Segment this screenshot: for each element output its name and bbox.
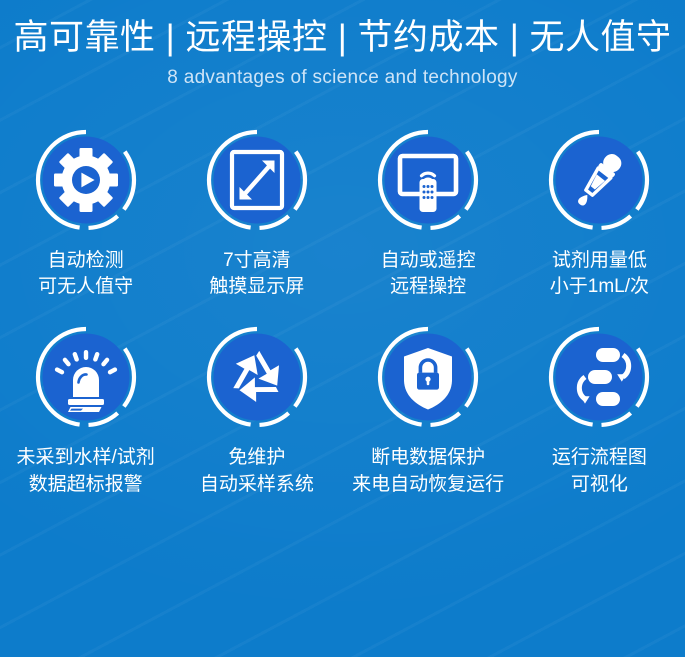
monitor-remote-icon <box>375 127 481 233</box>
poster-root: 高可靠性 | 远程操控 | 节约成本 | 无人值守 8 advantages o… <box>0 0 685 657</box>
expand-screen-icon-badge[interactable] <box>204 127 310 233</box>
shield-lock-icon <box>375 324 481 430</box>
recycle-icon-badge[interactable] <box>204 324 310 430</box>
feature-label: 免维护自动采样系统 <box>200 445 314 497</box>
feature-item[interactable]: 7寸高清触摸显示屏 <box>171 127 342 300</box>
recycle-icon <box>204 324 310 430</box>
feature-label: 未采到水样/试剂数据超标报警 <box>16 445 154 497</box>
feature-item[interactable]: 试剂用量低小于1mL/次 <box>514 127 685 300</box>
feature-label-line1: 运行流程图 <box>552 447 647 468</box>
feature-label-line1: 免维护 <box>228 447 285 468</box>
alarm-siren-icon-badge[interactable] <box>33 324 139 430</box>
feature-item[interactable]: 自动或遥控远程操控 <box>343 127 514 300</box>
feature-label-line2: 数据超标报警 <box>16 472 154 498</box>
dropper-icon <box>546 127 652 233</box>
gear-play-icon <box>33 127 139 233</box>
feature-label-line2: 小于1mL/次 <box>550 274 649 300</box>
feature-grid: 自动检测可无人值守7寸高清触摸显示屏自动或遥控远程操控试剂用量低小于1mL/次未… <box>0 127 685 498</box>
feature-item[interactable]: 免维护自动采样系统 <box>171 324 342 497</box>
gear-play-glyph <box>54 148 118 212</box>
shield-lock-icon-badge[interactable] <box>375 324 481 430</box>
alarm-siren-icon <box>33 324 139 430</box>
feature-label-line1: 未采到水样/试剂 <box>16 447 154 468</box>
feature-label-line2: 可无人值守 <box>38 274 133 300</box>
feature-label-line1: 断电数据保护 <box>371 447 485 468</box>
feature-item[interactable]: 运行流程图可视化 <box>514 324 685 497</box>
page-title: 高可靠性 | 远程操控 | 节约成本 | 无人值守 <box>0 18 685 57</box>
feature-label-line2: 自动采样系统 <box>200 472 314 498</box>
feature-item[interactable]: 自动检测可无人值守 <box>0 127 171 300</box>
feature-label-line2: 远程操控 <box>381 274 476 300</box>
feature-label-line1: 自动或遥控 <box>381 250 476 271</box>
feature-label: 断电数据保护来电自动恢复运行 <box>352 445 504 497</box>
feature-label-line2: 触摸显示屏 <box>209 274 304 300</box>
feature-label: 自动或遥控远程操控 <box>381 248 476 300</box>
feature-label: 试剂用量低小于1mL/次 <box>550 248 649 300</box>
poster-header: 高可靠性 | 远程操控 | 节约成本 | 无人值守 8 advantages o… <box>0 0 685 91</box>
gear-play-icon-badge[interactable] <box>33 127 139 233</box>
feature-label-line1: 试剂用量低 <box>552 250 647 271</box>
feature-label: 自动检测可无人值守 <box>38 248 133 300</box>
monitor-remote-icon-badge[interactable] <box>375 127 481 233</box>
page-subtitle: 8 advantages of science and technology <box>0 66 685 91</box>
feature-label: 7寸高清触摸显示屏 <box>209 248 304 300</box>
feature-item[interactable]: 未采到水样/试剂数据超标报警 <box>0 324 171 497</box>
feature-label-line1: 自动检测 <box>48 250 124 271</box>
feature-label-line2: 来电自动恢复运行 <box>352 472 504 498</box>
flowchart-icon-badge[interactable] <box>546 324 652 430</box>
feature-label-line1: 7寸高清 <box>223 250 291 271</box>
flowchart-icon <box>546 324 652 430</box>
dropper-icon-badge[interactable] <box>546 127 652 233</box>
feature-label-line2: 可视化 <box>552 472 647 498</box>
feature-label: 运行流程图可视化 <box>552 445 647 497</box>
expand-screen-icon <box>204 127 310 233</box>
feature-item[interactable]: 断电数据保护来电自动恢复运行 <box>343 324 514 497</box>
